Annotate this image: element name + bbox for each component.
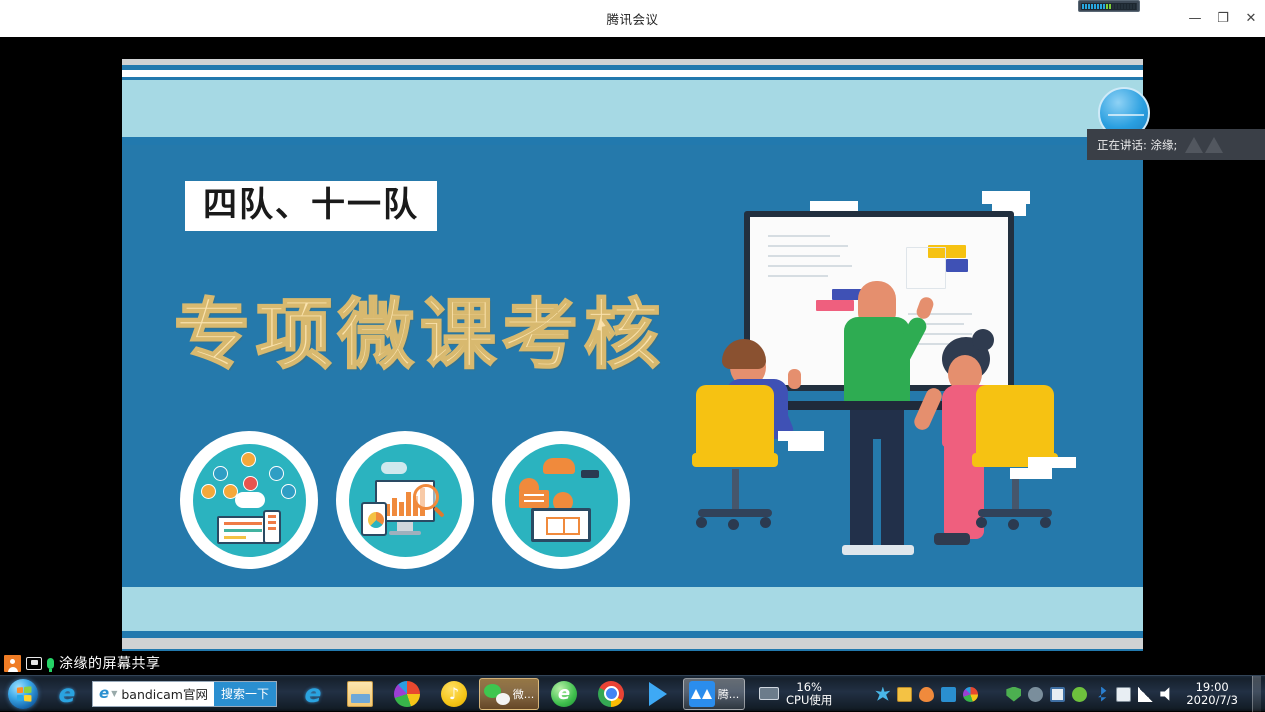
maximize-button[interactable]: ❐ <box>1209 0 1237 37</box>
taskbar-item-360[interactable] <box>385 678 429 710</box>
slide-band-top-blue3 <box>122 137 1143 145</box>
monitor-icon <box>26 657 42 670</box>
active-speaker-label: 正在讲话: 涂缘; <box>1097 137 1177 153</box>
removable-device-icon[interactable] <box>1116 687 1131 702</box>
slide-band-bottom-gray <box>122 638 1143 649</box>
slide-icon-row <box>180 431 630 569</box>
active-speaker-toast: 正在讲话: 涂缘; <box>1087 129 1265 160</box>
listener-left-hand <box>788 369 801 389</box>
taskbar-item-wechat[interactable]: 微... <box>479 678 539 710</box>
volume-icon[interactable] <box>1160 687 1175 702</box>
360-browser-icon <box>394 681 420 707</box>
taskbar-item-qqmusic[interactable] <box>432 678 476 710</box>
plus-icon[interactable] <box>1072 687 1087 702</box>
windows-logo-icon <box>8 679 38 709</box>
slide-band-top-white <box>122 70 1143 77</box>
display-icon[interactable] <box>1050 687 1065 702</box>
taskbar-item-green-browser[interactable] <box>542 678 586 710</box>
cpu-percent: 16% <box>786 681 832 694</box>
screen-share-label: 涂缘的屏幕共享 <box>59 653 161 673</box>
presenter-shoes <box>842 545 914 555</box>
listener-right-shoe <box>934 533 970 545</box>
e-learning-icon <box>492 431 630 569</box>
taskbar-item-meeting-label: 腾... <box>718 686 740 702</box>
list-icon[interactable] <box>941 687 956 702</box>
chrome-icon <box>598 681 624 707</box>
presenter-leg-gap <box>873 439 881 545</box>
slide-subtitle: 四队、十一队 <box>203 188 419 222</box>
shield-icon[interactable] <box>1006 687 1021 702</box>
listener-right-bun <box>972 329 994 351</box>
windows-taskbar: e e ▼ bandicam官网 搜索一下 e 微... <box>0 675 1265 711</box>
internet-explorer-icon: e <box>99 686 109 701</box>
taskbar-item-ie[interactable]: e <box>291 678 335 710</box>
flame-icon[interactable] <box>919 687 934 702</box>
slide-band-bottom-blue2 <box>122 631 1143 638</box>
chair-right-legs <box>978 509 1052 517</box>
slide-band-top-light <box>122 80 1143 137</box>
chevron-down-icon[interactable]: ▼ <box>111 689 117 698</box>
close-button[interactable]: ✕ <box>1237 0 1265 37</box>
taskbar-item-explorer[interactable] <box>338 678 382 710</box>
snowflake-icon[interactable] <box>875 687 890 702</box>
minimize-button[interactable]: — <box>1181 0 1209 37</box>
window-controls: — ❐ ✕ <box>1181 0 1265 37</box>
person-icon <box>4 655 21 672</box>
cpu-label: CPU使用 <box>786 694 832 707</box>
taskbar-item-chrome[interactable] <box>589 678 633 710</box>
window-title: 腾讯会议 <box>606 9 658 28</box>
network-signal-icon[interactable] <box>1138 687 1153 702</box>
taskbar-items: e 微... 腾... <box>291 678 745 710</box>
chair-left <box>696 385 774 457</box>
slide-title: 专项微课考核 <box>174 297 666 373</box>
address-input[interactable]: bandicam官网 <box>121 684 214 703</box>
chair-left-legs <box>698 509 772 517</box>
tencent-meeting-icon <box>689 681 715 707</box>
folder-icon <box>347 681 373 707</box>
window-title-bar[interactable]: 腾讯会议 — ❐ ✕ <box>0 0 1265 37</box>
recording-meter-widget[interactable] <box>1078 0 1140 12</box>
media-player-icon <box>645 681 671 707</box>
tencent-meeting-logo-icon <box>1185 137 1223 153</box>
wechat-icon <box>484 681 510 707</box>
chair-right <box>976 385 1054 457</box>
search-button[interactable]: 搜索一下 <box>214 682 276 706</box>
recording-meter-bars <box>1081 3 1137 10</box>
taskbar-item-player[interactable] <box>636 678 680 710</box>
cpu-usage-widget: 16% CPU使用 <box>759 681 832 707</box>
address-bar[interactable]: e ▼ bandicam官网 搜索一下 <box>92 681 277 707</box>
screen-share-status-bar: 涂缘的屏幕共享 <box>0 651 1265 675</box>
keyboard-icon[interactable] <box>759 687 779 700</box>
taskbar-item-wechat-label: 微... <box>513 686 535 702</box>
360-icon[interactable] <box>963 687 978 702</box>
internet-explorer-icon: e <box>59 681 76 706</box>
taskbar-item-tencent-meeting[interactable]: 腾... <box>683 678 745 710</box>
system-tray: 19:00 2020/7/3 <box>875 676 1265 712</box>
start-button[interactable] <box>0 677 46 711</box>
meeting-presentation-illustration <box>692 189 1112 619</box>
internet-explorer-icon: e <box>305 681 322 706</box>
quicklaunch-ie-button[interactable]: e <box>46 677 88 711</box>
show-desktop-button[interactable] <box>1252 676 1261 712</box>
qq-music-icon <box>441 681 467 707</box>
user-account-icon[interactable] <box>1028 687 1043 702</box>
shared-screen-stage: 四队、十一队 专项微课考核 <box>0 37 1265 651</box>
clock-date: 2020/7/3 <box>1186 694 1238 707</box>
data-analytics-icon <box>336 431 474 569</box>
chair-left-post <box>732 469 739 509</box>
cloud-network-icon <box>180 431 318 569</box>
presentation-slide: 四队、十一队 专项微课考核 <box>122 59 1143 669</box>
bluetooth-icon[interactable] <box>1094 687 1109 702</box>
taskbar-clock[interactable]: 19:00 2020/7/3 <box>1186 681 1238 707</box>
microphone-icon[interactable] <box>47 658 54 669</box>
slide-subtitle-box: 四队、十一队 <box>185 181 437 231</box>
green-browser-icon <box>551 681 577 707</box>
window-alert-icon[interactable] <box>897 687 912 702</box>
